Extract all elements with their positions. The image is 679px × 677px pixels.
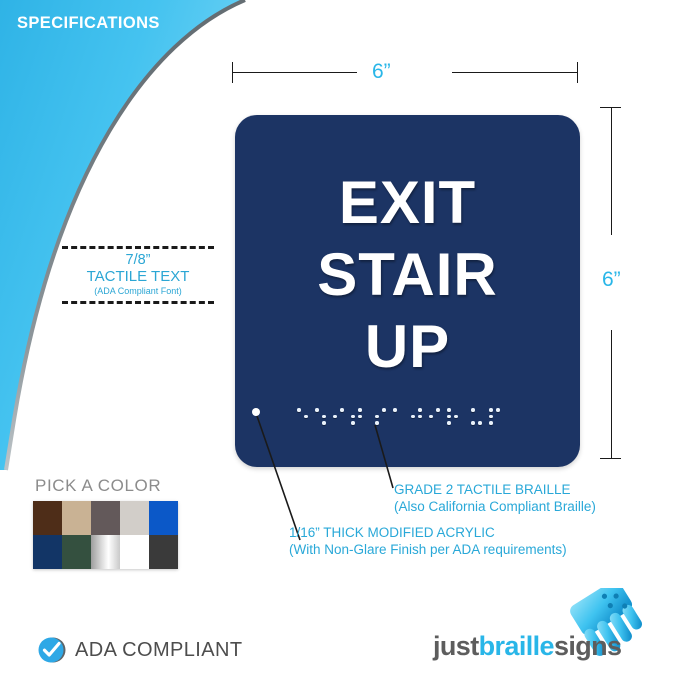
- braille-cell: [393, 408, 404, 426]
- braille-cell: [315, 408, 326, 426]
- braille-cell: [411, 408, 422, 426]
- braille-dot: [382, 408, 386, 412]
- sign-text: EXIT STAIR UP: [235, 167, 580, 383]
- width-label: 6”: [372, 60, 391, 84]
- braille-dot: [315, 408, 319, 412]
- banner-shape: [0, 0, 250, 480]
- sign-line-1: EXIT: [235, 167, 580, 239]
- annotation-acrylic: 1/16” THICK MODIFIED ACRYLIC (With Non-G…: [289, 524, 567, 558]
- color-swatch-white[interactable]: [120, 535, 149, 569]
- color-swatch-brushed-silver[interactable]: [91, 535, 120, 569]
- tactile-size: 7/8”: [62, 252, 214, 268]
- tactile-label: TACTILE TEXT: [62, 268, 214, 285]
- braille-dot: [411, 415, 415, 419]
- color-swatch-grid[interactable]: [33, 501, 178, 569]
- braille-cell: [351, 408, 362, 426]
- header-banner: SPECIFICATIONS: [0, 0, 250, 480]
- braille-cell: [297, 408, 308, 426]
- annotation-braille-line1: GRADE 2 TACTILE BRAILLE: [394, 481, 596, 498]
- braille-dot: [297, 408, 301, 412]
- braille-dot: [375, 421, 379, 425]
- braille-dot: [447, 408, 451, 412]
- check-circle-icon: [38, 636, 66, 664]
- color-swatch-dark-gray[interactable]: [91, 501, 120, 535]
- ada-compliant-badge: ADA COMPLIANT: [38, 636, 242, 664]
- braille-cell: [333, 408, 344, 426]
- braille-dot: [489, 408, 493, 412]
- braille-sign: EXIT STAIR UP: [235, 115, 580, 467]
- color-swatch-tan[interactable]: [62, 501, 91, 535]
- dim-line-bottom: [611, 330, 612, 458]
- braille-dot: [418, 408, 422, 412]
- color-swatch-forest-green[interactable]: [62, 535, 91, 569]
- logo-wordmark: justbraillesigns: [433, 631, 621, 662]
- braille-cell: [447, 408, 458, 426]
- braille-word: [471, 408, 500, 426]
- braille-dot: [418, 415, 422, 419]
- sign-line-3: UP: [235, 311, 580, 383]
- braille-word: [375, 408, 458, 426]
- dim-line-right: [452, 72, 577, 73]
- annotation-braille: GRADE 2 TACTILE BRAILLE (Also California…: [394, 481, 596, 515]
- braille-dot: [351, 421, 355, 425]
- dashed-rule-top: [62, 246, 214, 249]
- logo-part-just: just: [433, 631, 479, 661]
- dim-line-top: [611, 107, 612, 235]
- sign-line-2: STAIR: [235, 239, 580, 311]
- braille-dot: [358, 408, 362, 412]
- braille-dot: [322, 421, 326, 425]
- braille-dot: [454, 415, 458, 419]
- braille-dot: [340, 408, 344, 412]
- braille-dot: [393, 408, 397, 412]
- braille-dot: [447, 415, 451, 419]
- brand-logo[interactable]: justbraillesigns: [433, 592, 663, 664]
- braille-dot: [447, 421, 451, 425]
- color-swatch-light-gray[interactable]: [120, 501, 149, 535]
- ada-compliant-label: ADA COMPLIANT: [75, 639, 242, 662]
- color-swatch-black[interactable]: [149, 535, 178, 569]
- pick-a-color-title: PICK A COLOR: [35, 476, 161, 496]
- dim-line-left: [232, 72, 357, 73]
- braille-dot: [351, 415, 355, 419]
- braille-cell: [489, 408, 500, 426]
- thickness-callout-dot: [252, 408, 260, 416]
- braille-dot: [322, 415, 326, 419]
- dim-tick-right: [577, 62, 578, 83]
- braille-dot: [429, 415, 433, 419]
- annotation-acrylic-line2: (With Non-Glare Finish per ADA requireme…: [289, 541, 567, 558]
- color-swatch-brown[interactable]: [33, 501, 62, 535]
- color-swatch-navy[interactable]: [33, 535, 62, 569]
- annotation-acrylic-line1: 1/16” THICK MODIFIED ACRYLIC: [289, 524, 567, 541]
- braille-word: [297, 408, 362, 426]
- height-label: 6”: [602, 268, 621, 292]
- color-swatch-blue[interactable]: [149, 501, 178, 535]
- braille-cell: [471, 408, 482, 426]
- braille-dot: [333, 415, 337, 419]
- braille-dot: [358, 415, 362, 419]
- tactile-text-callout: 7/8” TACTILE TEXT (ADA Compliant Font): [62, 246, 214, 304]
- braille-dot: [478, 421, 482, 425]
- braille-dot: [489, 421, 493, 425]
- page-title: SPECIFICATIONS: [17, 14, 160, 33]
- braille-dot: [471, 421, 475, 425]
- tactile-note: (ADA Compliant Font): [62, 285, 214, 298]
- dashed-rule-bottom: [62, 301, 214, 304]
- braille-dot: [375, 415, 379, 419]
- specification-sheet: SPECIFICATIONS 6” 6” EXIT STAIR UP 7/8” …: [0, 0, 679, 677]
- braille-cell: [429, 408, 440, 426]
- braille-cell: [375, 408, 386, 426]
- braille-dot: [496, 408, 500, 412]
- braille-dot: [436, 408, 440, 412]
- logo-part-braille: braille: [479, 631, 554, 661]
- braille-dot: [304, 415, 308, 419]
- braille-dot: [471, 408, 475, 412]
- braille-dot: [489, 415, 493, 419]
- braille-row: [297, 408, 500, 426]
- annotation-braille-line2: (Also California Compliant Braille): [394, 498, 596, 515]
- logo-part-signs: signs: [554, 631, 622, 661]
- dim-tick-bottom: [600, 458, 621, 459]
